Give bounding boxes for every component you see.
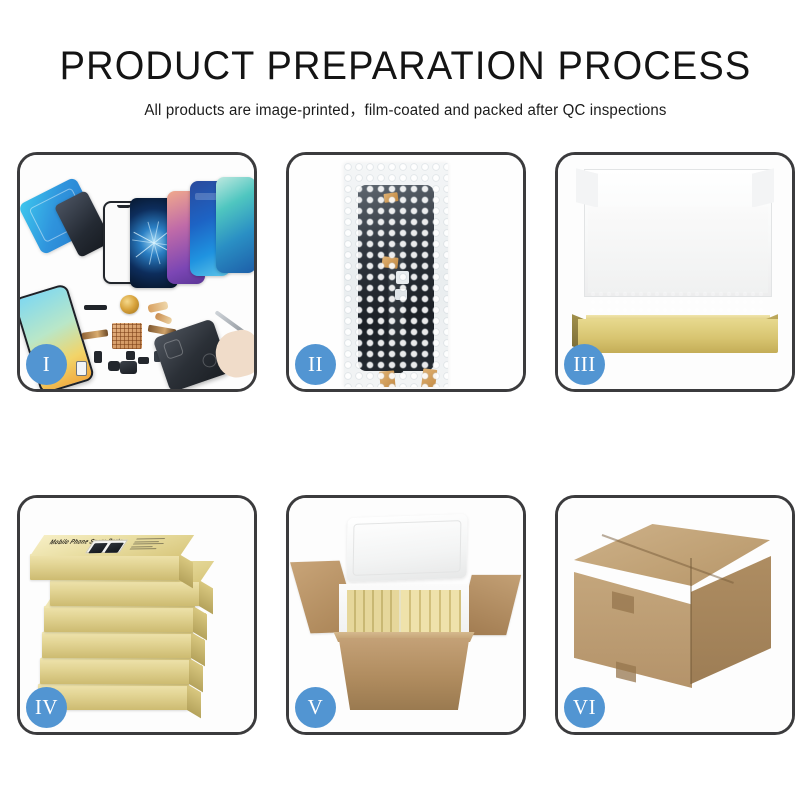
flex-cable-icon [82,329,109,340]
sim-tray-icon [76,361,87,376]
component-chip-icon [138,357,149,364]
header: PRODUCT PREPARATION PROCESS All products… [0,44,811,120]
gold-box [40,658,190,684]
gold-boxes-rows-icon [347,590,461,634]
step-badge-3: III [564,344,605,385]
copper-shield-icon [112,323,142,349]
carton-edge-icon [690,558,692,684]
step-badge-5: V [295,687,336,728]
step-badge-4: IV [26,687,67,728]
taptic-coil-icon [120,295,139,314]
box-flap-right-icon [752,168,774,207]
step-card-1: I [17,152,257,392]
component-chip-icon [108,361,120,371]
step-badge-6: VI [564,687,605,728]
step-badge-2: II [295,344,336,385]
page-title: PRODUCT PREPARATION PROCESS [20,44,790,89]
step-card-2: II [286,152,526,392]
step-card-4: Mobile Phone Spare Parts Mo [17,495,257,735]
page-subtitle: All products are image-printed，film-coat… [12,98,799,120]
carton-front-icon [333,638,475,710]
gold-box-labeled: Mobile Phone Spare Parts [30,554,180,580]
bubble-wrap-bag-icon [344,163,448,387]
component-chip-icon [126,351,135,360]
step-card-6: VI [555,495,795,735]
step-badge-1: I [26,344,67,385]
gold-box-labeled: Mobile Phone Spare Parts [50,580,200,606]
gold-box [42,632,192,658]
component-chip-icon [94,351,102,363]
flex-cable-icon [154,312,172,325]
foam-lid-icon [346,514,467,582]
speaker-module-icon [120,361,137,374]
gold-box-front-icon [578,319,778,353]
phone-teal-icon [216,177,254,273]
bubble-texture [344,163,448,387]
earpiece-bar-icon [84,305,107,310]
step-card-3: III [555,152,795,392]
process-steps-grid: I [17,152,795,735]
step-card-5: V [286,495,526,735]
foam-sheet-icon [588,207,768,293]
box-flap-left-icon [576,168,598,207]
flex-cable-icon [147,301,168,313]
gold-box [44,606,194,632]
infographic-page: PRODUCT PREPARATION PROCESS All products… [0,0,811,811]
